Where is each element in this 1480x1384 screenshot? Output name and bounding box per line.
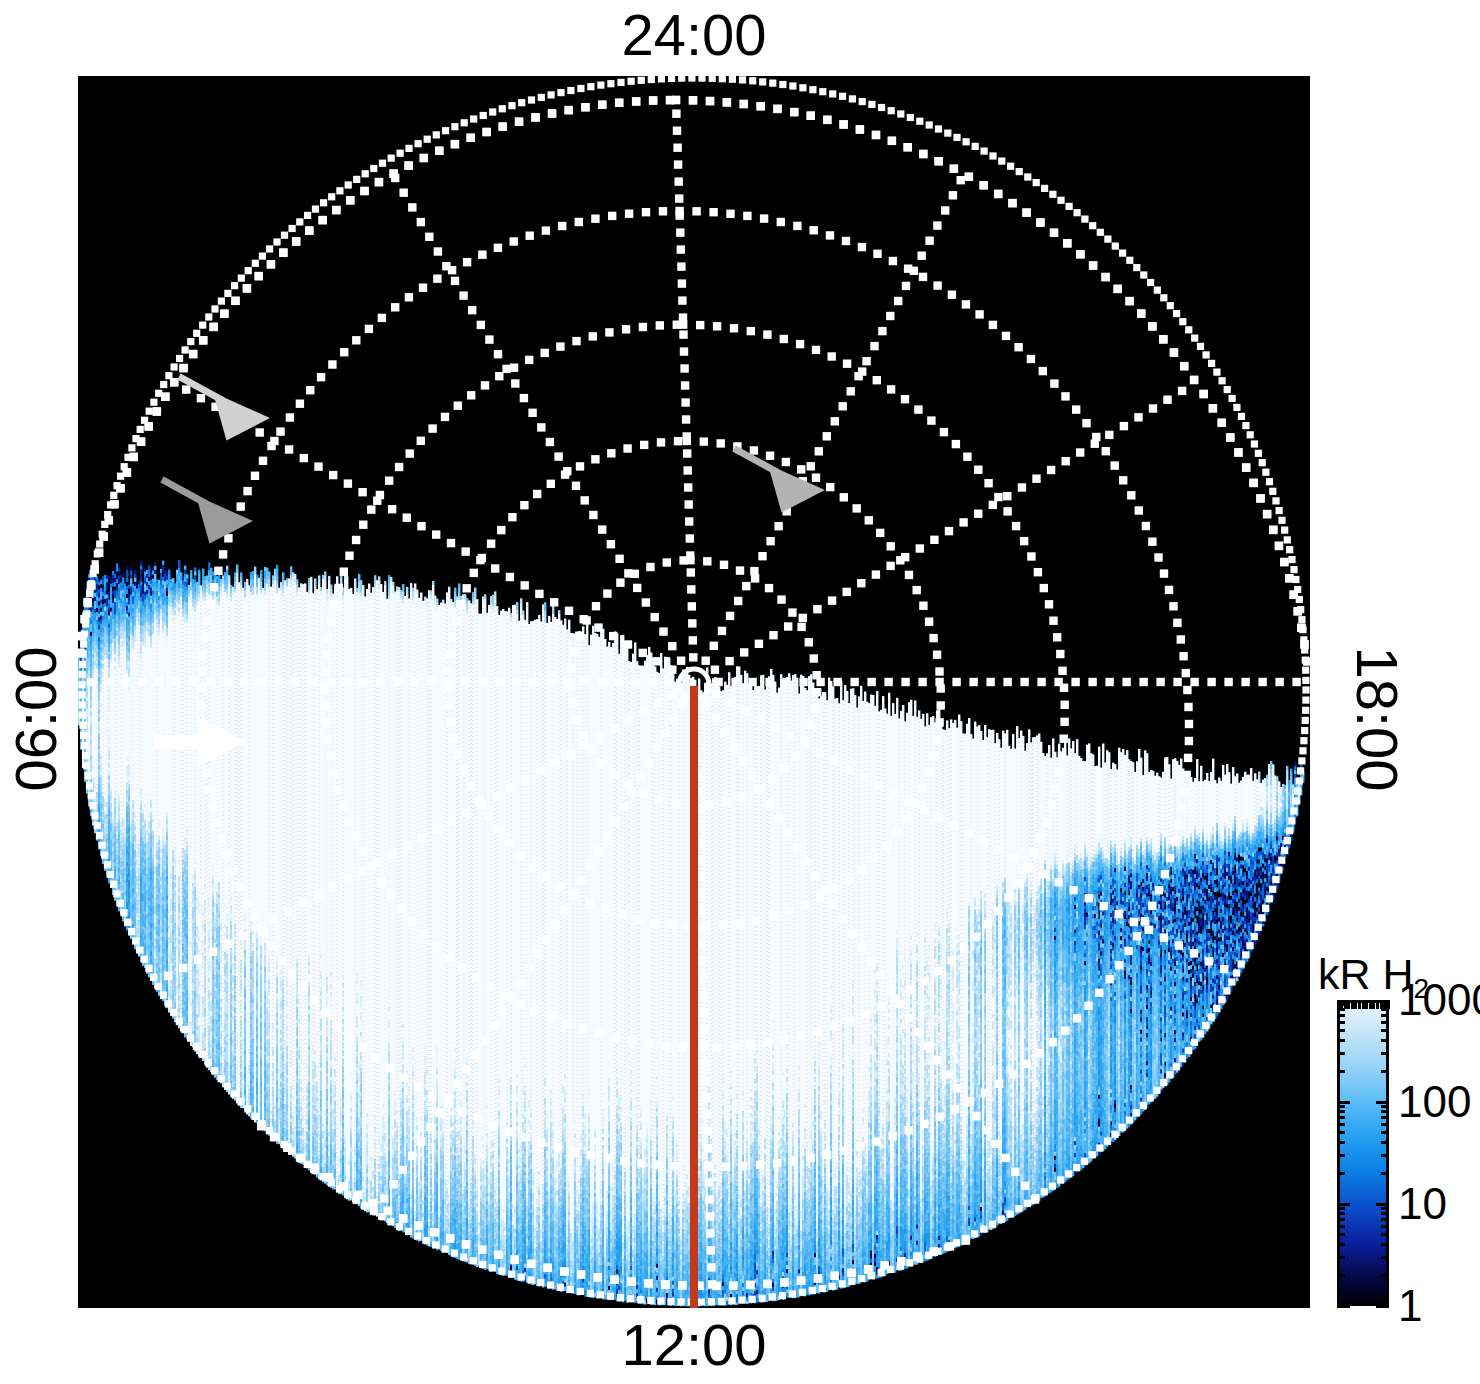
colorbar-tick xyxy=(1337,1123,1345,1126)
axis-label-top-local-time: 24:00 xyxy=(0,6,1388,64)
colorbar-tick xyxy=(1337,1141,1345,1144)
colorbar-tick xyxy=(1381,1029,1389,1032)
colorbar-tick xyxy=(1381,1014,1389,1017)
colorbar-tick-top xyxy=(1380,1000,1383,1009)
axis-label-left-local-time: 06:00 xyxy=(7,629,65,809)
colorbar-tick-top xyxy=(1340,1000,1343,1009)
colorbar-tick xyxy=(1381,1256,1389,1259)
colorbar-tick xyxy=(1381,1110,1389,1113)
colorbar-tick xyxy=(1337,1116,1345,1119)
colorbar-tick xyxy=(1337,1052,1345,1055)
colorbar-tick xyxy=(1376,1305,1389,1308)
colorbar-tick-top xyxy=(1383,1000,1386,1009)
colorbar-tick-top xyxy=(1351,1000,1354,1009)
colorbar-tick xyxy=(1337,1021,1345,1024)
polar-projection-panel xyxy=(78,76,1310,1308)
colorbar-tick xyxy=(1381,1131,1389,1134)
colorbar-tick xyxy=(1381,1212,1389,1215)
colorbar-tick-top xyxy=(1376,1000,1379,1009)
colorbar-tick xyxy=(1337,1131,1345,1134)
colorbar-tick-top xyxy=(1344,1000,1347,1009)
colorbar-tick xyxy=(1337,1256,1345,1259)
gray-arrow-2 xyxy=(162,480,253,544)
colorbar-tick-top xyxy=(1387,1000,1390,1009)
colorbar-tick-top xyxy=(1358,1000,1361,1009)
colorbar-tick xyxy=(1337,1207,1345,1210)
aurora-disc xyxy=(78,76,1310,1308)
colorbar-tick-top xyxy=(1365,1000,1368,1009)
colorbar-tick-top xyxy=(1372,1000,1375,1009)
colorbar-tick xyxy=(1337,1014,1345,1017)
figure-root: 24:00 12:00 06:00 18:00 kR H2 1000100101 xyxy=(0,0,1480,1384)
gray-arrow-3 xyxy=(734,449,825,513)
colorbar-tick xyxy=(1381,1172,1389,1175)
colorbar-tick xyxy=(1381,1116,1389,1119)
colorbar-tick xyxy=(1376,1203,1389,1206)
colorbar-tick-top xyxy=(1362,1000,1365,1009)
colorbar-tick xyxy=(1381,1274,1389,1277)
colorbar-tick-label: 1000 xyxy=(1398,978,1480,1022)
colorbar-tick xyxy=(1337,1305,1350,1308)
axis-label-bottom-local-time: 12:00 xyxy=(0,1316,1388,1374)
colorbar-tick-top xyxy=(1354,1000,1357,1009)
colorbar-tick xyxy=(1381,1154,1389,1157)
colorbar-tick xyxy=(1337,1203,1350,1206)
colorbar-tick xyxy=(1381,1233,1389,1236)
colorbar-tick xyxy=(1337,1039,1345,1042)
colorbar-tick xyxy=(1337,1110,1345,1113)
colorbar-tick xyxy=(1381,1021,1389,1024)
aurora-disc-svg xyxy=(78,76,1310,1308)
colorbar-tick xyxy=(1337,1233,1345,1236)
colorbar-tick xyxy=(1337,1105,1345,1108)
colorbar-tick xyxy=(1337,1070,1345,1073)
colorbar-tick xyxy=(1337,1029,1345,1032)
colorbar-tick xyxy=(1337,1172,1345,1175)
colorbar-tick-label: 10 xyxy=(1398,1182,1447,1226)
colorbar-tick xyxy=(1381,1207,1389,1210)
colorbar-tick xyxy=(1337,1243,1345,1246)
axis-label-right-local-time: 18:00 xyxy=(1348,629,1406,809)
colorbar-tick xyxy=(1337,1225,1345,1228)
colorbar-tick xyxy=(1381,1225,1389,1228)
colorbar-tick xyxy=(1381,1123,1389,1126)
colorbar-tick xyxy=(1381,1052,1389,1055)
colorbar-tick xyxy=(1337,1101,1350,1104)
colorbar-tick xyxy=(1337,1212,1345,1215)
colorbar-tick-top xyxy=(1369,1000,1372,1009)
colorbar-tick xyxy=(1381,1243,1389,1246)
colorbar-tick xyxy=(1381,1141,1389,1144)
colorbar-tick xyxy=(1337,1274,1345,1277)
colorbar-tick xyxy=(1337,1218,1345,1221)
colorbar-tick-label: 100 xyxy=(1398,1080,1471,1124)
colorbar-gradient xyxy=(1340,1003,1386,1303)
colorbar-tick xyxy=(1337,1154,1345,1157)
colorbar-tick xyxy=(1381,1105,1389,1108)
colorbar: kR H2 1000100101 xyxy=(1318,950,1478,1320)
colorbar-tick-top xyxy=(1347,1000,1350,1009)
colorbar-tick xyxy=(1376,1101,1389,1104)
colorbar-tick xyxy=(1381,1039,1389,1042)
colorbar-tick xyxy=(1381,1070,1389,1073)
colorbar-tick xyxy=(1381,1218,1389,1221)
colorbar-tick-label: 1 xyxy=(1398,1284,1422,1328)
